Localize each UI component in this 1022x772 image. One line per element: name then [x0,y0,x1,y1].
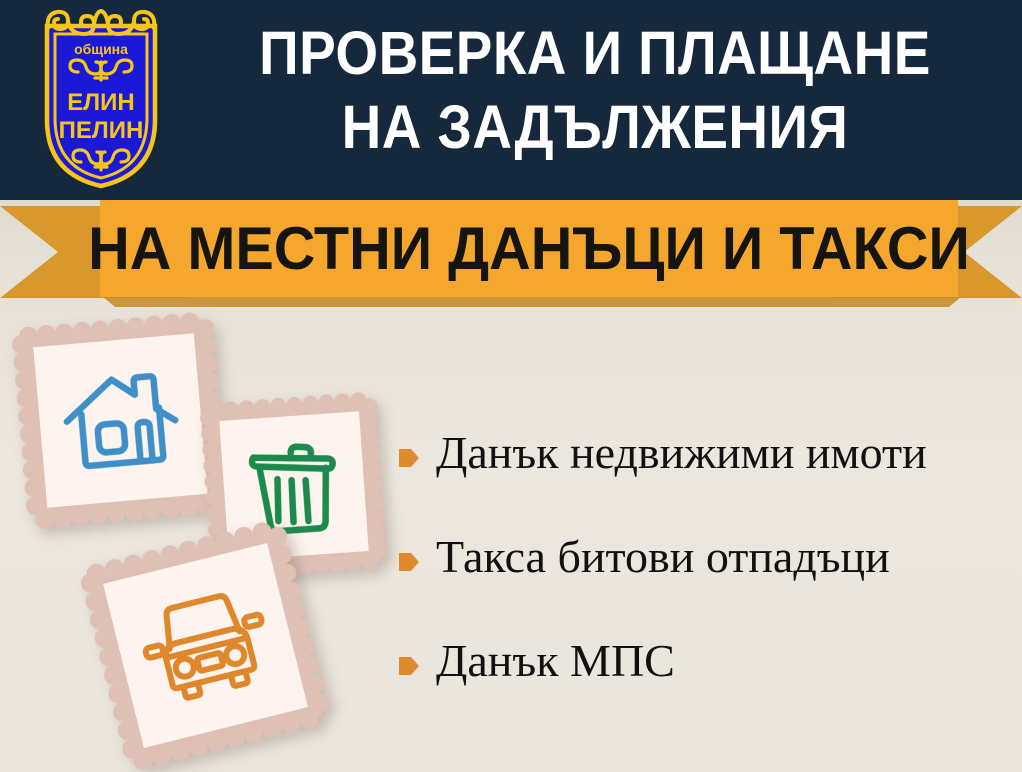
house-icon [56,361,185,479]
car-icon [131,580,280,712]
list-item[interactable]: Данък недвижими имоти [398,424,1008,528]
arrow-bullet-icon [398,446,420,470]
house-icon-wrap [33,333,207,507]
arrow-bullet-icon [398,654,420,678]
poster-canvas: ПРОВЕРКА И ПЛАЩАНЕ НА ЗАДЪЛЖЕНИЯ община [0,0,1022,772]
coat-of-arms-icon: община ЕЛИН ПЕЛИН [26,4,176,194]
ribbon-label: НА МЕСТНИ ДАНЪЦИ И ТАКСИ [117,200,941,297]
list-item-label: Данък недвижими имоти [436,424,927,482]
logo-top-label: община [74,41,128,57]
list-item[interactable]: Такса битови отпадъци [398,528,1008,632]
arrow-bullet-icon [398,550,420,574]
list-item-label: Данък МПС [436,632,675,690]
page-title: ПРОВЕРКА И ПЛАЩАНЕ НА ЗАДЪЛЖЕНИЯ [231,16,960,164]
logo-name-line1: ЕЛИН [67,89,134,116]
list-item-label: Такса битови отпадъци [436,528,890,586]
tax-types-list: Данък недвижими имоти Такса битови отпад… [398,424,1008,736]
ribbon-shadow [103,297,961,307]
municipality-logo: община ЕЛИН ПЕЛИН [26,4,176,194]
list-item[interactable]: Данък МПС [398,632,1008,736]
logo-name-line2: ПЕЛИН [59,117,144,144]
ribbon-banner: НА МЕСТНИ ДАНЪЦИ И ТАКСИ [0,200,1022,308]
